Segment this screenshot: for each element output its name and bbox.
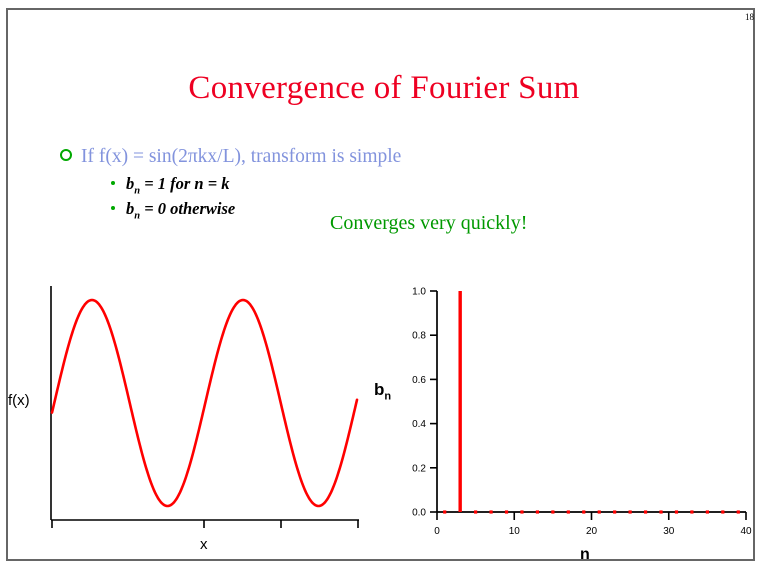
spectrum-zero-marker (474, 510, 477, 513)
spectrum-zero-marker (536, 510, 539, 513)
spectrum-zero-marker (443, 510, 446, 513)
spectrum-zero-marker (644, 510, 647, 513)
spectrum-y-tick-label: 0.4 (412, 419, 426, 430)
slide-canvas: 18 Convergence of Fourier Sum If f(x) = … (0, 0, 768, 576)
spectrum-zero-marker (690, 510, 693, 513)
sine-y-axis-label: f(x) (8, 392, 30, 409)
page-number: 18 (745, 12, 754, 22)
spectrum-y-tick-label: 0.8 (412, 331, 426, 342)
spectrum-y-tick-label: 1.0 (412, 287, 426, 298)
spectrum-y-axis-label: bn (374, 381, 391, 402)
sine-curve (52, 300, 357, 506)
sine-waveform-chart (0, 270, 390, 570)
spectrum-zero-marker (520, 510, 523, 513)
spectrum-x-ticks (437, 512, 746, 520)
coefficient-expression: = 0 otherwise (140, 199, 235, 218)
spectrum-x-axis-label: n (580, 546, 590, 564)
spectrum-zero-marker (505, 510, 508, 513)
spectrum-y-tick-label: 0.2 (412, 463, 426, 474)
spectrum-x-tick-label: 0 (434, 526, 440, 537)
spectrum-y-tick-labels: 0.00.20.40.60.81.0 (412, 287, 426, 519)
spectrum-zero-marker (598, 510, 601, 513)
spectrum-zero-marker (551, 510, 554, 513)
spectrum-zero-marker (659, 510, 662, 513)
green-dot-bullet-icon (111, 206, 115, 210)
spectrum-x-tick-label: 40 (740, 526, 752, 537)
fourier-spectrum-chart: 0.00.20.40.60.81.0 010203040 (390, 270, 768, 570)
spectrum-zero-marker (567, 510, 570, 513)
coefficient-expression: = 1 for n = k (140, 174, 229, 193)
spectrum-zero-marker (629, 510, 632, 513)
spectrum-zero-marker (675, 510, 678, 513)
bullet-level1: If f(x) = sin(2πkx/L), transform is simp… (60, 146, 680, 168)
green-dot-bullet-icon (111, 181, 115, 185)
spectrum-x-tick-label: 10 (509, 526, 521, 537)
converges-note: Converges very quickly! (330, 212, 527, 235)
bullet-level2: bn = 1 for n = k (111, 174, 680, 199)
coefficient-symbol: b (126, 174, 134, 193)
spectrum-zero-marker (737, 510, 740, 513)
coefficient-symbol: b (126, 199, 134, 218)
spectrum-zero-marker (706, 510, 709, 513)
bullet-level2-label: bn = 1 for n = k (126, 174, 230, 196)
spectrum-x-tick-label: 30 (663, 526, 675, 537)
spectrum-y-tick-label: 0.0 (412, 508, 426, 519)
spectrum-zero-marker (489, 510, 492, 513)
spectrum-y-ticks (430, 291, 437, 512)
spectrum-x-tick-label: 20 (586, 526, 598, 537)
sine-x-axis-label: x (200, 536, 208, 553)
spectrum-y-axis-label-subscript: n (384, 390, 391, 402)
spectrum-y-tick-label: 0.6 (412, 375, 426, 386)
bullet-level2-label: bn = 0 otherwise (126, 199, 235, 221)
spectrum-zero-marker (582, 510, 585, 513)
green-ring-bullet-icon (60, 149, 72, 161)
spectrum-x-tick-labels: 010203040 (434, 526, 752, 537)
spectrum-zero-marker (721, 510, 724, 513)
bullet-level1-label: If f(x) = sin(2πkx/L), transform is simp… (81, 146, 401, 168)
spectrum-zero-marker (613, 510, 616, 513)
page-title: Convergence of Fourier Sum (0, 70, 768, 107)
